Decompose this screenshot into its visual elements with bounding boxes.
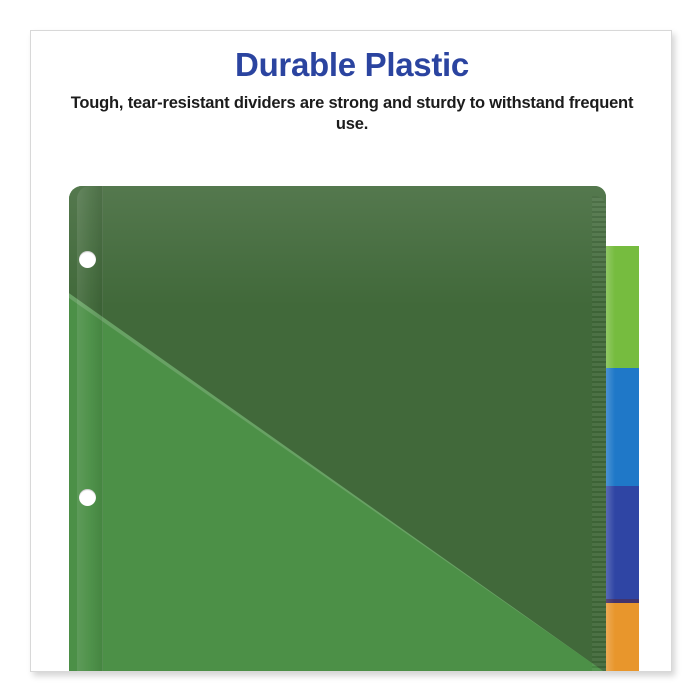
sheet-ridged-edge [592, 196, 606, 672]
screenshot-canvas: Durable Plastic Tough, tear-resistant di… [0, 0, 700, 700]
divider-sheet [69, 186, 606, 672]
product-card: Durable Plastic Tough, tear-resistant di… [30, 30, 672, 672]
punch-hole-top [79, 251, 96, 268]
index-tab-blue [606, 368, 639, 486]
index-tab-orange [606, 603, 639, 672]
page-subtitle: Tough, tear-resistant dividers are stron… [31, 93, 672, 136]
marketing-copy: Durable Plastic Tough, tear-resistant di… [31, 47, 672, 136]
index-tab-indigo [606, 486, 639, 603]
pocket-highlight [69, 186, 606, 306]
index-tab-stack [606, 216, 639, 672]
page-title: Durable Plastic [31, 47, 672, 84]
punch-hole-bottom [79, 489, 96, 506]
